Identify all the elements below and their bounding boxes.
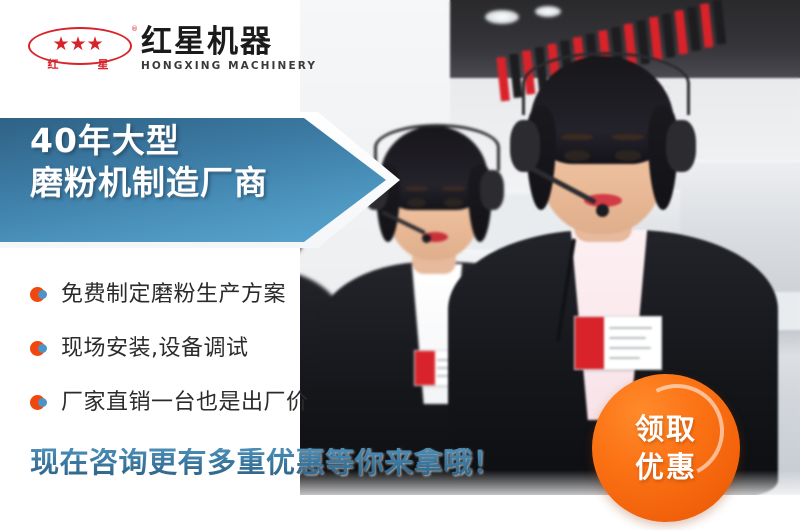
headline-line-1: 40年大型	[30, 120, 330, 162]
logo-name-en: HONGXING MACHINERY	[141, 60, 317, 72]
logo-wordmark: 红星机器 HONGXING MACHINERY	[141, 26, 317, 72]
feature-label: 现场安装,设备调试	[61, 338, 249, 360]
headline-banner: 40年大型 磨粉机制造厂商	[0, 112, 400, 248]
logo-mark-characters: 红 星	[28, 59, 128, 70]
registered-mark-icon: ®	[131, 25, 138, 33]
feature-list: 免费制定磨粉生产方案 现场安装,设备调试 厂家直销一台也是出厂价	[30, 268, 360, 430]
headset-earcup-icon	[510, 120, 540, 172]
headset-mic-icon	[596, 204, 609, 217]
ceiling-light-icon	[535, 6, 561, 17]
cta-line-1: 领取	[635, 410, 697, 448]
claim-offer-button[interactable]: 领取 优惠	[592, 374, 740, 522]
ceiling-light-icon	[485, 10, 519, 24]
company-logo[interactable]: ★★★ ® 红 星 红星机器 HONGXING MACHINERY	[28, 22, 317, 76]
feature-item: 免费制定磨粉生产方案	[30, 268, 360, 322]
feature-item: 厂家直销一台也是出厂价	[30, 376, 360, 430]
bullet-dot-icon	[30, 286, 48, 304]
headset-earcup-icon	[666, 120, 696, 172]
slogan-text: 现在咨询更有多重优惠等你来拿哦！	[30, 448, 502, 477]
logo-stars-icon: ★★★	[28, 27, 128, 61]
headline-line-2: 磨粉机制造厂商	[30, 162, 330, 204]
logo-name-cn: 红星机器	[141, 26, 317, 59]
cta-line-2: 优惠	[635, 448, 697, 486]
logo-mark-char-left: 红	[48, 59, 59, 70]
feature-label: 厂家直销一台也是出厂价	[61, 392, 309, 414]
feature-label: 免费制定磨粉生产方案	[61, 284, 286, 306]
headline-text: 40年大型 磨粉机制造厂商	[30, 120, 330, 204]
logo-mark-char-right: 星	[98, 59, 109, 70]
feature-item: 现场安装,设备调试	[30, 322, 360, 376]
promo-banner: ★★★ ® 红 星 红星机器 HONGXING MACHINERY 40年大型 …	[0, 0, 800, 530]
bullet-dot-icon	[30, 340, 48, 358]
logo-mark: ★★★ ® 红 星	[28, 23, 132, 75]
employee-badge	[574, 316, 662, 370]
headset-band-icon	[522, 52, 690, 115]
bullet-dot-icon	[30, 394, 48, 412]
